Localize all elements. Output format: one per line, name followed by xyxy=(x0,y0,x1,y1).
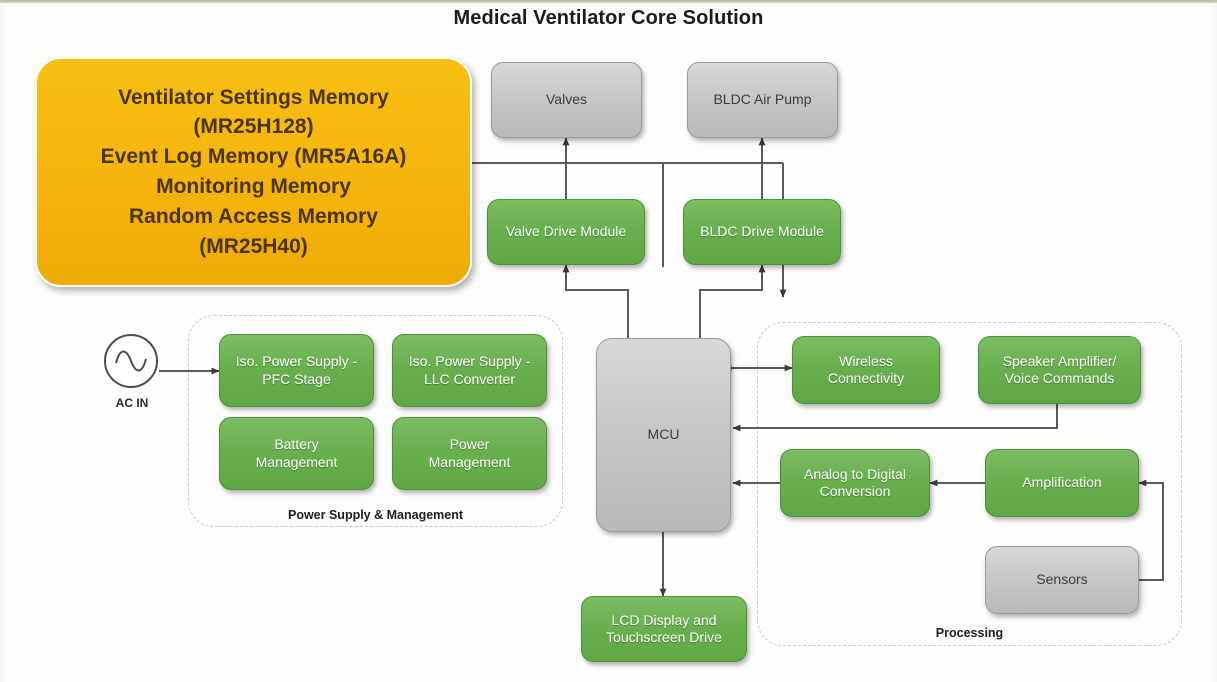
iso-pfc-line-2: PFC Stage xyxy=(262,371,330,389)
analog-to-digital-conversion-block[interactable]: Analog to Digital Conversion xyxy=(780,449,930,517)
memory-line-6: (MR25H40) xyxy=(199,232,308,262)
memory-line-3: Event Log Memory (MR5A16A) xyxy=(101,142,407,172)
ac-in-source-icon xyxy=(103,333,161,391)
bldc-drive-module-block[interactable]: BLDC Drive Module xyxy=(683,199,841,265)
memory-line-1: Ventilator Settings Memory xyxy=(118,83,389,113)
wireless-line-1: Wireless xyxy=(839,353,893,371)
battery-mgmt-line-2: Management xyxy=(256,454,338,472)
iso-llc-line-2: LLC Converter xyxy=(424,371,515,389)
mcu-label: MCU xyxy=(648,426,680,444)
sensors-block[interactable]: Sensors xyxy=(985,546,1139,614)
power-mgmt-line-1: Power xyxy=(450,436,490,454)
wireless-connectivity-block[interactable]: Wireless Connectivity xyxy=(792,336,940,404)
diagram-canvas: Medical Ventilator Core Solution Power S… xyxy=(0,0,1217,682)
memory-line-4: Monitoring Memory xyxy=(156,172,351,202)
speaker-amplifier-block[interactable]: Speaker Amplifier/ Voice Commands xyxy=(978,336,1141,404)
sensors-label: Sensors xyxy=(1036,571,1087,589)
lcd-line-1: LCD Display and xyxy=(611,612,716,630)
iso-power-supply-llc-block[interactable]: Iso. Power Supply - LLC Converter xyxy=(392,334,547,407)
battery-management-block[interactable]: Battery Management xyxy=(219,417,374,490)
amplification-block[interactable]: Amplification xyxy=(985,449,1139,517)
memory-block[interactable]: Ventilator Settings Memory (MR25H128) Ev… xyxy=(35,57,472,287)
bldc-air-pump-label: BLDC Air Pump xyxy=(713,91,811,109)
iso-pfc-line-1: Iso. Power Supply - xyxy=(236,353,357,371)
valves-label: Valves xyxy=(546,91,587,109)
mcu-block[interactable]: MCU xyxy=(596,338,731,532)
battery-mgmt-line-1: Battery xyxy=(274,436,318,454)
power-mgmt-line-2: Management xyxy=(429,454,511,472)
memory-line-5: Random Access Memory xyxy=(129,202,378,232)
speaker-line-2: Voice Commands xyxy=(1005,370,1115,388)
lcd-display-block[interactable]: LCD Display and Touchscreen Drive xyxy=(581,596,747,662)
speaker-line-1: Speaker Amplifier/ xyxy=(1003,353,1117,371)
ac-in-label: AC IN xyxy=(95,396,169,410)
memory-line-2: (MR25H128) xyxy=(193,112,313,142)
power-management-block[interactable]: Power Management xyxy=(392,417,547,490)
wireless-line-2: Connectivity xyxy=(828,370,904,388)
lcd-line-2: Touchscreen Drive xyxy=(606,629,722,647)
valve-drive-module-block[interactable]: Valve Drive Module xyxy=(487,199,645,265)
adc-line-2: Conversion xyxy=(820,483,891,501)
amplification-label: Amplification xyxy=(1022,474,1101,492)
adc-line-1: Analog to Digital xyxy=(804,466,906,484)
valve-drive-module-label: Valve Drive Module xyxy=(506,223,626,241)
iso-llc-line-1: Iso. Power Supply - xyxy=(409,353,530,371)
bldc-drive-module-label: BLDC Drive Module xyxy=(700,223,824,241)
valves-block[interactable]: Valves xyxy=(491,62,642,138)
iso-power-supply-pfc-block[interactable]: Iso. Power Supply - PFC Stage xyxy=(219,334,374,407)
bldc-air-pump-block[interactable]: BLDC Air Pump xyxy=(687,62,838,138)
